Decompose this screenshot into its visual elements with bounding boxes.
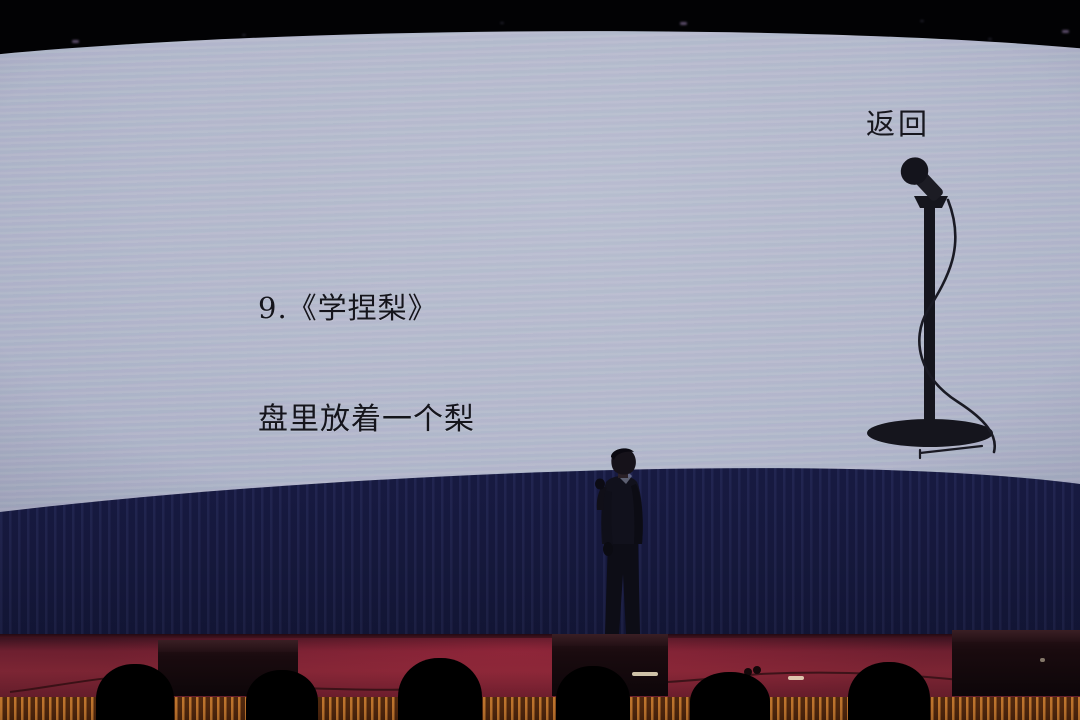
poem-line-0: 9.《学捏梨》 — [258, 290, 568, 327]
poem-line-1: 盘里放着一个梨 — [258, 401, 568, 438]
audience-head — [246, 670, 318, 720]
slide-back-button[interactable]: 返回 — [866, 101, 930, 143]
monitor-top-face — [952, 630, 1080, 642]
stage-photo: 9.《学捏梨》 盘里放着一个梨 桌上放块橡皮泥 小丽用泥学捏梨 眼看着梨手捏泥 … — [0, 0, 1080, 720]
stage-monitor-right — [952, 630, 1080, 696]
monitor-top-face — [158, 640, 298, 652]
floor-light-speck — [632, 672, 658, 676]
floor-light-speck — [788, 676, 804, 680]
presenter-silhouette — [586, 448, 662, 638]
microphone-stand-icon — [862, 150, 1047, 470]
monitor-top-face — [552, 634, 668, 646]
audience-head — [690, 672, 770, 720]
floor-light-speck — [1040, 658, 1045, 662]
